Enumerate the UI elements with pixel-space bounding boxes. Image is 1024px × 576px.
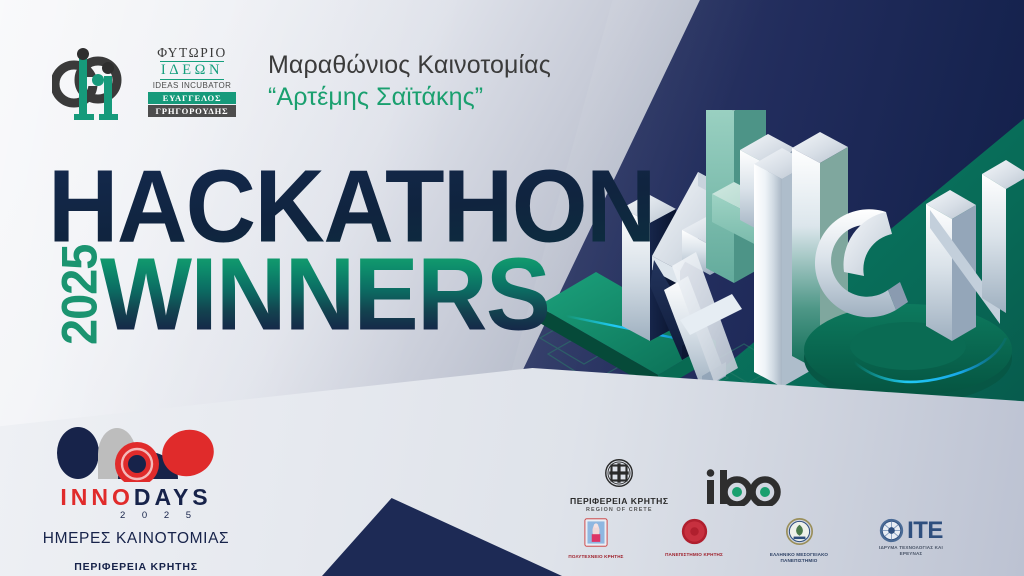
innodays-shapes-icon [36,420,236,482]
headline-winners-row: 2025 WINNERS [48,251,621,356]
partner-forth-ite: ITE ΙΔΡΥΜΑ ΤΕΧΝΟΛΟΓΙΑΣ ΚΑΙ ΕΡΕΥΝΑΣ [868,518,954,557]
partner-region-of-crete: ΠΕΡΙΦΕΡΕΙΑ ΚΡΗΤΗΣ REGION OF CRETE [570,458,669,513]
headline-winners: WINNERS [100,251,549,340]
technical-university-of-crete-icon [584,518,608,552]
hellenic-mediterranean-university-caption: ΕΛΛΗΝΙΚΟ ΜΕΣΟΓΕΙΑΚΟ ΠΑΝΕΠΙΣΤΗΜΙΟ [756,552,842,564]
university-of-crete-icon [681,518,708,550]
poster-canvas: ΦΥΤΩΡΙΟ ΙΔΕΩΝ IDEAS INCUBATOR ΕΥΑΓΓΕΛΟΣ … [0,0,1024,576]
partner-hellenic-mediterranean-university: ΕΛΛΗΝΙΚΟ ΜΕΣΟΓΕΙΑΚΟ ΠΑΝΕΠΙΣΤΗΜΙΟ [756,518,842,564]
forth-ite-logotype: ITE [907,519,943,543]
innodays-subtitle: ΗΜΕΡΕΣ ΚΑΙΝΟΤΟΜΙΑΣ [36,530,236,548]
incubator-wordmark: ΦΥΤΩΡΙΟ ΙΔΕΩΝ IDEAS INCUBATOR ΕΥΑΓΓΕΛΟΣ … [148,45,236,117]
innodays-word-inno: INNO [60,484,134,510]
incubator-line-2: ΙΔΕΩΝ [160,61,224,80]
hellenic-mediterranean-university-icon [786,518,813,550]
incubator-line-5: ΓΡΗΓΟΡΟΥΔΗΣ [148,105,236,117]
letter-nu-3d [926,160,1024,341]
incubator-line-4: ΕΥΑΓΓΕΛΟΣ [148,92,236,104]
innodays-year: 2 0 2 5 [82,510,236,521]
primary-partners: ΠΕΡΙΦΕΡΕΙΑ ΚΡΗΤΗΣ REGION OF CRETE [570,458,785,513]
secondary-partners: ΠΟΛΥΤΕΧΝΕΙΟ ΚΡΗΤΗΣ ΠΑΝΕΠΙΣΤΗΜΙΟ ΚΡΗΤΗΣ [560,518,954,564]
innodays-logo: INNODAYS 2 0 2 5 ΗΜΕΡΕΣ ΚΑΙΝΟΤΟΜΙΑΣ ΠΕΡΙ… [36,420,236,573]
header: ΦΥΤΩΡΙΟ ΙΔΕΩΝ IDEAS INCUBATOR ΕΥΑΓΓΕΛΟΣ … [52,40,551,122]
partner-university-of-crete: ΠΑΝΕΠΙΣΤΗΜΙΟ ΚΡΗΤΗΣ [658,518,730,558]
innodays-region: ΠΕΡΙΦΕΡΕΙΑ ΚΡΗΤΗΣ [36,561,236,573]
forth-ite-caption: ΙΔΡΥΜΑ ΤΕΧΝΟΛΟΓΙΑΣ ΚΑΙ ΕΡΕΥΝΑΣ [868,545,954,557]
innodays-word-days: DAYS [134,484,212,510]
region-of-crete-name-gr: ΠΕΡΙΦΕΡΕΙΑ ΚΡΗΤΗΣ [570,496,669,506]
event-title: Μαραθώνιος Καινοτομίας “Αρτέμης Σαϊτάκης… [268,49,551,113]
incubator-line-3: IDEAS INCUBATOR [153,81,232,90]
headline: HACKATHON 2025 WINNERS [48,163,621,356]
innodays-wordmark: INNODAYS [36,486,236,509]
incubator-line-1: ΦΥΤΩΡΙΟ [157,45,227,61]
event-title-line-1: Μαραθώνιος Καινοτομίας [268,49,551,81]
cpi-monogram-icon [52,40,130,122]
forth-ite-icon: ITE [879,518,943,543]
region-of-crete-name-en: REGION OF CRETE [586,507,653,513]
ibo-logo-icon [703,468,785,504]
event-title-line-2: “Αρτέμης Σαϊτάκης” [268,81,551,113]
technical-university-of-crete-caption: ΠΟΛΥΤΕΧΝΕΙΟ ΚΡΗΤΗΣ [568,554,623,560]
university-of-crete-caption: ΠΑΝΕΠΙΣΤΗΜΙΟ ΚΡΗΤΗΣ [665,552,723,558]
region-of-crete-seal-icon [604,458,634,493]
partner-technical-university-of-crete: ΠΟΛΥΤΕΧΝΕΙΟ ΚΡΗΤΗΣ [560,518,632,560]
